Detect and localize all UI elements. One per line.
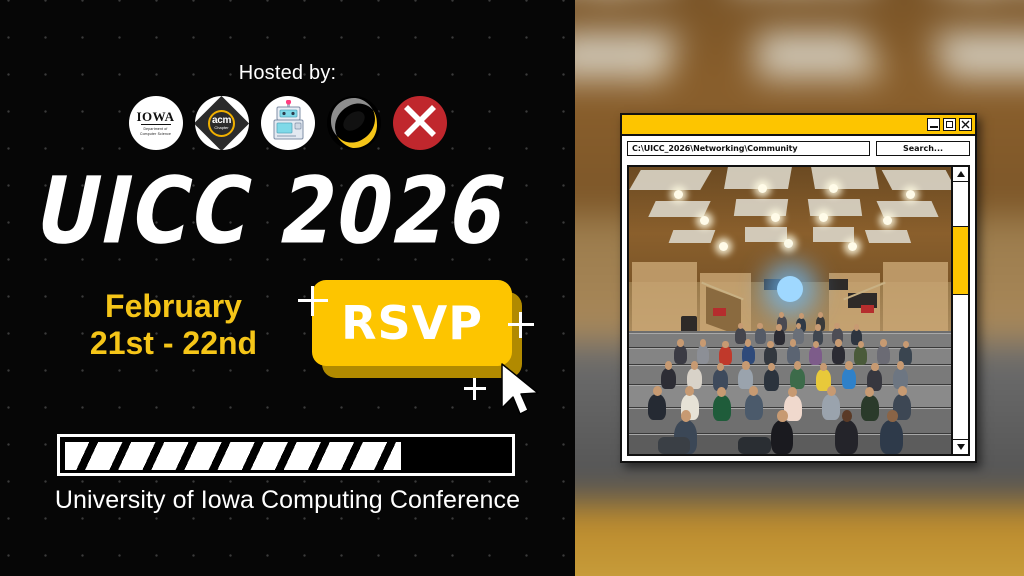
- file-explorer-window[interactable]: C:\UICC_2026\Networking\Community Search…: [620, 113, 977, 463]
- window-content-area: [627, 165, 970, 456]
- page-title: UICC 2026: [36, 166, 560, 258]
- scroll-down-button[interactable]: [953, 439, 968, 454]
- sponsor-logo-robot[interactable]: [261, 96, 315, 150]
- address-bar-input[interactable]: C:\UICC_2026\Networking\Community: [627, 141, 870, 156]
- sponsor-logo-iowa-dept-cs[interactable]: IOWA Department of Computer Science: [129, 96, 183, 150]
- sparkle-icon-bottom: [464, 378, 486, 400]
- sponsor-logo-acm-chapter[interactable]: acm Chapter: [195, 96, 249, 150]
- right-panel: C:\UICC_2026\Networking\Community Search…: [575, 0, 1024, 576]
- auditorium-scene: [629, 167, 951, 454]
- robot-icon: [268, 100, 308, 147]
- event-dates: February 21st - 22nd: [66, 288, 281, 362]
- acm-ring-shape: acm Chapter: [208, 110, 235, 137]
- sponsor-logo-red-x[interactable]: [393, 96, 447, 150]
- left-panel: Hosted by: IOWA Department of Computer S…: [0, 0, 575, 576]
- iowa-subtitle-line2: Computer Science: [140, 132, 171, 137]
- vertical-scrollbar[interactable]: [951, 167, 968, 454]
- event-dates-line2: 21st - 22nd: [66, 325, 281, 362]
- acm-diamond-shape: acm Chapter: [195, 96, 249, 150]
- event-dates-line1: February: [66, 288, 281, 325]
- maximize-button[interactable]: [943, 118, 956, 131]
- sponsor-logo-swirl[interactable]: [327, 96, 381, 150]
- minimize-icon: [930, 126, 938, 128]
- rsvp-button[interactable]: RSVP: [312, 280, 512, 366]
- iowa-divider: [141, 124, 171, 125]
- loading-progress-bar: [57, 434, 515, 476]
- minimize-button[interactable]: [927, 118, 940, 131]
- sponsor-logo-row: IOWA Department of Computer Science acm …: [0, 96, 575, 150]
- window-toolbar: C:\UICC_2026\Networking\Community Search…: [622, 136, 975, 161]
- page-subtitle: University of Iowa Computing Conference: [0, 486, 575, 515]
- rsvp-button-group: RSVP: [312, 280, 527, 380]
- projector-glow: [777, 276, 803, 302]
- scroll-up-button[interactable]: [953, 167, 968, 182]
- scrollbar-thumb[interactable]: [953, 226, 968, 295]
- close-button[interactable]: [959, 118, 972, 131]
- swirl-icon: [327, 96, 381, 150]
- scrollbar-track[interactable]: [953, 182, 968, 439]
- hosted-by-label: Hosted by:: [0, 62, 575, 85]
- chevron-down-icon: [957, 444, 965, 450]
- mouse-cursor-icon: [498, 362, 546, 418]
- auditorium-photo: [629, 167, 951, 454]
- chevron-up-icon: [957, 171, 965, 177]
- close-icon: [961, 120, 970, 129]
- poster-canvas: Hosted by: IOWA Department of Computer S…: [0, 0, 1024, 576]
- window-title-bar[interactable]: [622, 115, 975, 136]
- loading-progress-fill: [65, 442, 401, 470]
- search-input[interactable]: Search...: [876, 141, 970, 156]
- iowa-wordmark: IOWA: [136, 110, 174, 123]
- x-mark-icon: [400, 101, 440, 146]
- acm-chapter-label: Chapter: [214, 126, 228, 131]
- maximize-icon: [946, 121, 953, 128]
